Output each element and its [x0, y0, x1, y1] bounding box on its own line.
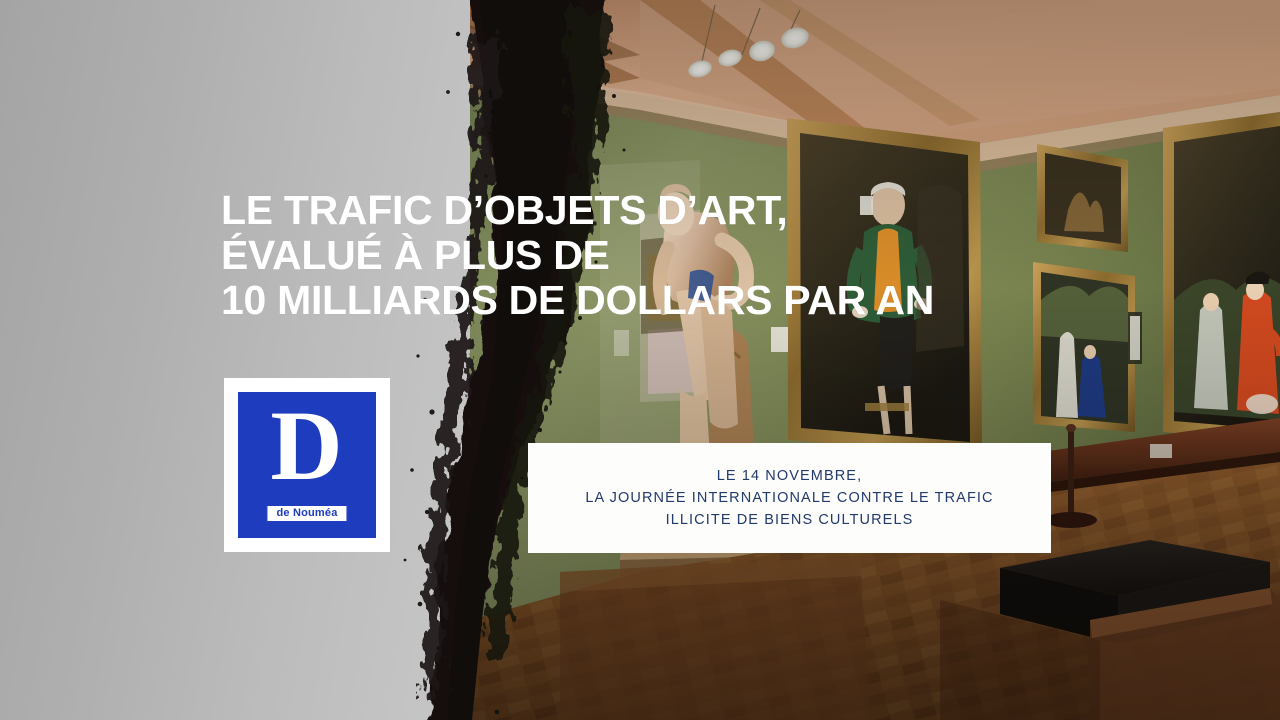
- caption-line-1: LE 14 NOVEMBRE,: [585, 465, 993, 487]
- caption-box: LE 14 NOVEMBRE, LA JOURNÉE INTERNATIONAL…: [528, 443, 1051, 553]
- logo-tagline: de Nouméa: [266, 505, 347, 522]
- caption-text: LE 14 NOVEMBRE, LA JOURNÉE INTERNATIONAL…: [585, 465, 993, 531]
- headline-line-1: LE TRAFIC D’OBJETS D’ART,: [221, 188, 1121, 233]
- headline-line-2: ÉVALUÉ À PLUS DE: [221, 233, 1121, 278]
- headline: LE TRAFIC D’OBJETS D’ART, ÉVALUÉ À PLUS …: [221, 188, 1121, 323]
- logo-d-de-noumea[interactable]: D de Nouméa: [224, 378, 390, 552]
- headline-line-3: 10 MILLIARDS DE DOLLARS PAR AN: [221, 278, 1121, 323]
- logo-letter-d: D: [238, 394, 376, 498]
- grey-panel: [0, 0, 470, 720]
- caption-line-2: LA JOURNÉE INTERNATIONALE CONTRE LE TRAF…: [585, 487, 993, 509]
- logo-blue-field: D de Nouméa: [238, 392, 376, 538]
- poster-canvas: LE TRAFIC D’OBJETS D’ART, ÉVALUÉ À PLUS …: [0, 0, 1280, 720]
- caption-line-3: ILLICITE DE BIENS CULTURELS: [585, 509, 993, 531]
